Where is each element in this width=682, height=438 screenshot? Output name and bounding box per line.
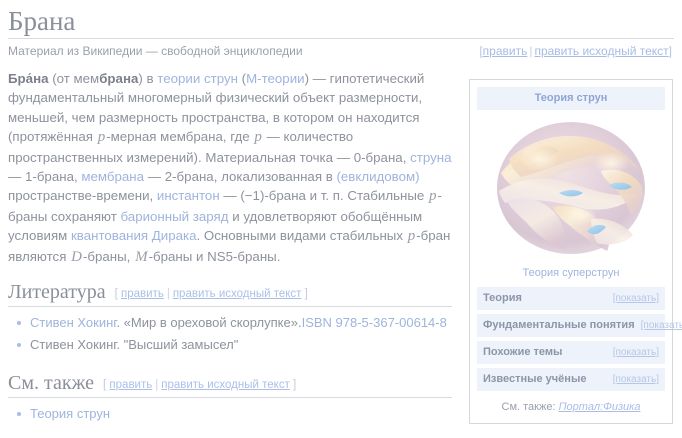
lead-text: -браны, — [83, 249, 134, 264]
math-variable-p: p — [428, 188, 438, 204]
lead-text: — 2-брана, локализованная в — [144, 169, 336, 184]
edit-link[interactable]: править — [483, 44, 528, 58]
infobox-row-toggle[interactable]: [показать] — [607, 346, 659, 359]
lead-text: (от мем — [49, 71, 100, 86]
infobox-row[interactable]: Известные учёные [показать] — [477, 368, 665, 391]
edit-open-bracket: [ — [103, 379, 106, 391]
lead-text: ( — [238, 71, 246, 86]
lead-text: . Основными видами стабильных — [197, 228, 407, 243]
math-variable-p: p — [97, 129, 107, 145]
section-header: См. также [ править|править исходный тек… — [8, 358, 452, 395]
infobox-row-toggle[interactable]: [показать] — [607, 292, 659, 305]
portal-physics-link[interactable]: Портал:Физика — [559, 401, 641, 413]
lead-term: Бра́на — [8, 71, 49, 86]
link-stephen-hawking[interactable]: Стивен Хокинг — [30, 315, 116, 330]
edit-link[interactable]: править — [121, 288, 164, 300]
lead-text: -мерная мембрана, где — [106, 129, 253, 144]
infobox-caption: Теория суперструн — [477, 261, 665, 287]
article-header: Брана Материал из Википедии — свободной … — [8, 0, 674, 59]
edit-close-bracket: ] — [305, 288, 308, 300]
infobox-figure — [477, 115, 665, 261]
edit-close-bracket: ] — [669, 44, 672, 58]
link-dirac-quantization[interactable]: квантования Дирака — [71, 228, 197, 243]
math-variable-D: D — [70, 249, 83, 265]
list-item: Стивен Хокинг. «Мир в ореховой скорлупке… — [8, 314, 452, 336]
edit-separator: | — [164, 288, 173, 300]
list-item: Теория струн — [8, 405, 452, 427]
lead-term-root: брана — [99, 71, 138, 86]
infobox-title: Теория струн — [477, 87, 665, 110]
link-baryon-charge[interactable]: барионный заряд — [121, 209, 229, 224]
link-struna[interactable]: струна — [410, 150, 451, 165]
edit-open-bracket: [ — [115, 288, 118, 300]
list-item: Стивен Хокинг. "Высший замысел" — [8, 336, 452, 358]
section-title: См. также — [8, 372, 94, 395]
wikipedia-article-page: Брана Материал из Википедии — свободной … — [0, 0, 682, 438]
section-divider — [8, 306, 452, 307]
list-item-text: . «Мир в ореховой скорлупке». — [116, 315, 301, 330]
infobox-footer-prefix: См. также: — [502, 401, 559, 413]
section-literature: Литература [ править|править исходный те… — [8, 267, 452, 358]
page-title: Брана — [8, 6, 674, 38]
calabi-yau-manifold-svg — [483, 115, 659, 261]
link-instanton[interactable]: инстантон — [157, 188, 220, 203]
lead-text: — (−1)-брана и т. п. Стабильные — [220, 188, 428, 203]
infobox-row-toggle[interactable]: [показать] — [607, 373, 659, 386]
infobox-row[interactable]: Теория [показать] — [477, 287, 665, 310]
edit-separator: | — [152, 379, 161, 391]
edit-source-link[interactable]: править исходный текст — [161, 379, 290, 391]
section-divider — [8, 397, 452, 398]
infobox-row-label: Теория — [483, 292, 522, 305]
lead-text: ) в — [138, 71, 157, 86]
isbn-link[interactable]: ISBN 978-5-367-00614-8 — [302, 315, 447, 330]
infobox-row-label: Фундаментальные понятия — [483, 319, 635, 332]
site-tagline: Материал из Википедии — свободной энцикл… — [8, 44, 303, 59]
section-edit-links: [ править|править исходный текст ] — [94, 379, 296, 391]
edit-link[interactable]: править — [109, 379, 152, 391]
article-edit-links: [править|править исходный текст] — [479, 44, 674, 59]
literature-list: Стивен Хокинг. «Мир в ореховой скорлупке… — [8, 314, 452, 358]
lead-text: — 1-брана, — [8, 169, 81, 184]
tagline-row: Материал из Википедии — свободной энцикл… — [8, 39, 674, 59]
infobox-row[interactable]: Фундаментальные понятия [показать] — [477, 314, 665, 337]
infobox-footer: См. также: Портал:Физика — [477, 395, 665, 415]
article-body: Теория струн — [8, 59, 674, 427]
section-header: Литература [ править|править исходный те… — [8, 267, 452, 304]
edit-source-link[interactable]: править исходный текст — [173, 288, 302, 300]
link-m-theory[interactable]: М-теории — [246, 71, 305, 86]
calabi-yau-manifold-image — [483, 115, 659, 261]
section-edit-links: [ править|править исходный текст ] — [106, 288, 308, 300]
edit-close-bracket: ] — [293, 379, 296, 391]
math-variable-p: p — [253, 129, 263, 145]
list-item-text: Стивен Хокинг. "Высший замысел" — [30, 337, 238, 352]
math-variable-p: p — [407, 228, 417, 244]
link-membrana[interactable]: мембрана — [81, 169, 144, 184]
section-see-also: См. также [ править|править исходный тек… — [8, 358, 452, 427]
infobox-row-toggle[interactable]: [показать] — [635, 319, 682, 332]
infobox-row-label: Похожие темы — [483, 346, 562, 359]
lead-paragraph: Бра́на (от мембрана) в теории струн (М-т… — [8, 69, 452, 267]
lead-text: -браны и NS5-браны. — [149, 249, 281, 264]
link-string-theory[interactable]: Теория струн — [30, 406, 110, 421]
link-string-theory[interactable]: теории струн — [157, 71, 238, 86]
edit-source-link[interactable]: править исходный текст — [534, 44, 668, 58]
infobox-row[interactable]: Похожие темы [показать] — [477, 341, 665, 364]
math-variable-M: M — [134, 249, 149, 265]
infobox-string-theory: Теория струн — [469, 79, 673, 424]
link-euclidean[interactable]: (евклидовом) — [336, 169, 419, 184]
section-title: Литература — [8, 281, 106, 304]
infobox-row-label: Известные учёные — [483, 373, 586, 386]
see-also-list: Теория струн — [8, 405, 452, 427]
lead-text: пространстве-времени, — [8, 188, 157, 203]
